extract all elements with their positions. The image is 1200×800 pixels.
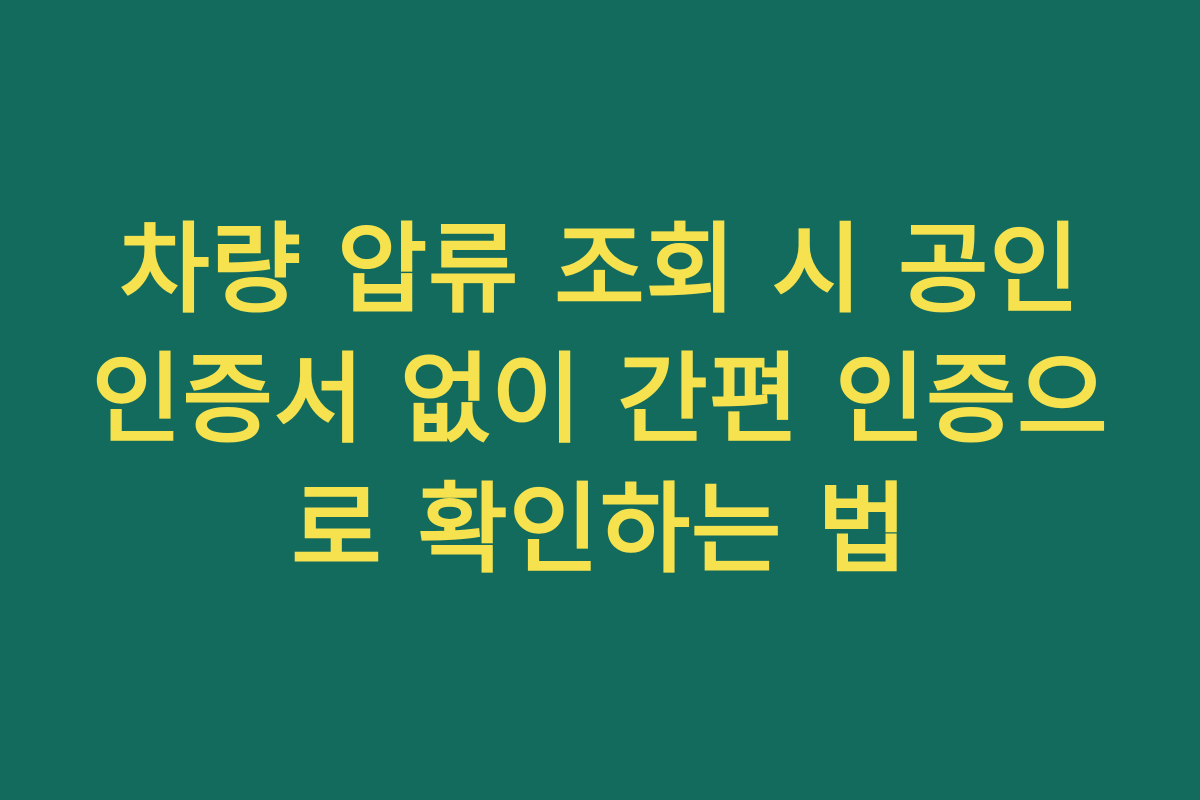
headline-text-block: 차량 압류 조회 시 공인 인증서 없이 간편 인증으 로 확인하는 법	[80, 205, 1120, 595]
headline-line-3: 로 확인하는 법	[80, 465, 1120, 595]
headline-line-1: 차량 압류 조회 시 공인	[80, 205, 1120, 335]
thumbnail-canvas: 차량 압류 조회 시 공인 인증서 없이 간편 인증으 로 확인하는 법	[0, 0, 1200, 800]
headline-line-2: 인증서 없이 간편 인증으	[80, 335, 1120, 465]
